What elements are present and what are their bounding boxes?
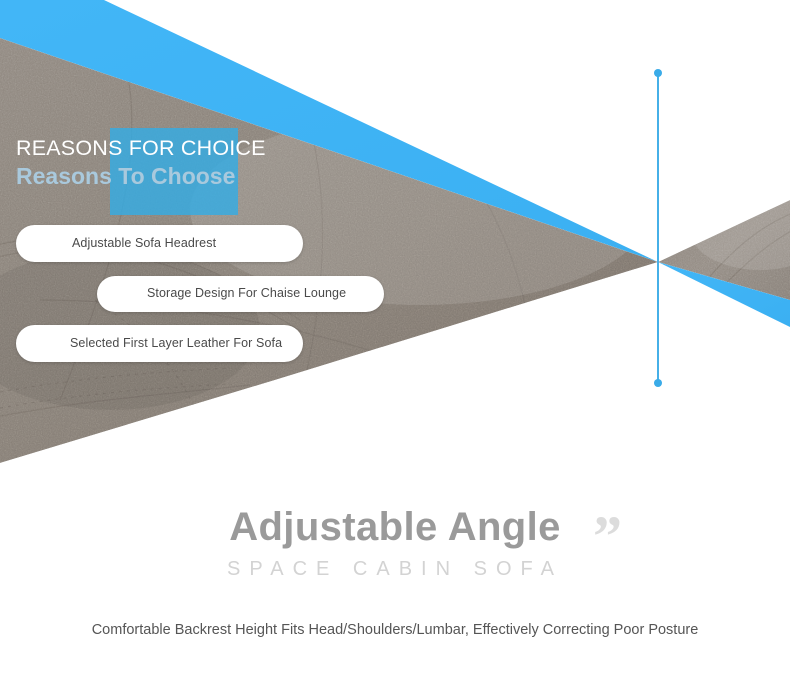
feature-pill-3-label: Selected First Layer Leather For Sofa xyxy=(70,336,282,352)
title-group: ” Adjustable Angle SPACE CABIN SOFA xyxy=(0,505,790,581)
feature-pill-1: Adjustable Sofa Headrest xyxy=(16,225,303,262)
quote-mark-icon: ” xyxy=(593,508,622,566)
caption-text: Comfortable Backrest Height Fits Head/Sh… xyxy=(0,622,790,638)
product-feature-banner: REASONS FOR CHOICE Reasons To Choose Adj… xyxy=(0,0,790,678)
feature-pill-2-label: Storage Design For Chaise Lounge xyxy=(147,286,346,302)
connector-dot-bottom-icon xyxy=(654,379,662,387)
subheading-text: Reasons To Choose xyxy=(16,164,266,190)
main-title: Adjustable Angle xyxy=(0,505,790,550)
heading-block: REASONS FOR CHOICE Reasons To Choose xyxy=(0,126,330,222)
connector-dot-top-icon xyxy=(654,69,662,77)
sub-title: SPACE CABIN SOFA xyxy=(0,558,790,581)
feature-pill-1-label: Adjustable Sofa Headrest xyxy=(72,236,216,252)
kicker-text: REASONS FOR CHOICE xyxy=(16,138,266,160)
feature-pill-2: Storage Design For Chaise Lounge xyxy=(97,276,384,312)
connector-line xyxy=(657,73,659,383)
feature-pill-3: Selected First Layer Leather For Sofa xyxy=(16,325,303,362)
